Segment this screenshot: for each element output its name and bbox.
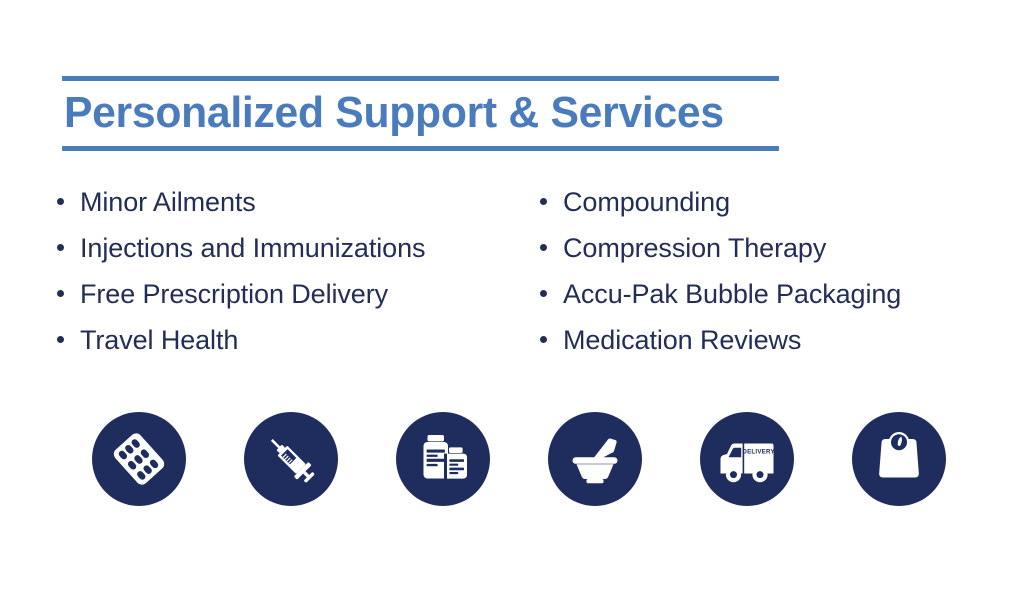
list-item: Travel Health [57,321,425,367]
page-title: Personalized Support & Services [62,81,757,146]
list-item: Minor Ailments [57,183,425,229]
icon-badge-blister-pack [92,412,186,506]
list-item: Compounding [540,183,901,229]
syringe-icon [260,428,322,490]
list-item-label: Free Prescription Delivery [80,275,388,313]
list-item-label: Travel Health [80,321,238,359]
services-list: Minor Ailments Injections and Immunizati… [0,183,1025,363]
list-item: Medication Reviews [540,321,901,367]
icon-badge-pill-bottles [396,412,490,506]
bullet-icon [540,244,547,251]
bullet-icon [57,198,64,205]
bullet-icon [57,290,64,297]
bullet-icon [57,244,64,251]
list-item-label: Medication Reviews [563,321,801,359]
list-item: Free Prescription Delivery [57,275,425,321]
icon-badge-mortar-pestle [548,412,642,506]
bullet-icon [57,336,64,343]
services-slide: Personalized Support & Services Minor Ai… [0,0,1025,590]
list-item-label: Accu-Pak Bubble Packaging [563,275,901,313]
list-item-label: Minor Ailments [80,183,256,221]
service-icons-row: DELIVERY [92,412,952,506]
list-item: Accu-Pak Bubble Packaging [540,275,901,321]
icon-badge-weight-scale [852,412,946,506]
bullet-icon [540,198,547,205]
services-column-left: Minor Ailments Injections and Immunizati… [57,183,425,367]
list-item: Compression Therapy [540,229,901,275]
bullet-icon [540,336,547,343]
icon-badge-syringe [244,412,338,506]
weight-scale-icon [868,428,930,490]
delivery-van-icon: DELIVERY [713,428,781,490]
list-item-label: Compression Therapy [563,229,826,267]
list-item-label: Injections and Immunizations [80,229,425,267]
bullet-icon [540,290,547,297]
mortar-pestle-icon [564,428,626,490]
title-rule-bottom [62,146,779,151]
pill-bottles-icon [413,429,473,489]
icon-badge-delivery-van: DELIVERY [700,412,794,506]
van-delivery-text: DELIVERY [742,449,775,456]
blister-pack-icon [108,428,170,490]
list-item: Injections and Immunizations [57,229,425,275]
title-block: Personalized Support & Services [62,76,779,151]
list-item-label: Compounding [563,183,730,221]
services-column-right: Compounding Compression Therapy Accu-Pak… [540,183,901,367]
